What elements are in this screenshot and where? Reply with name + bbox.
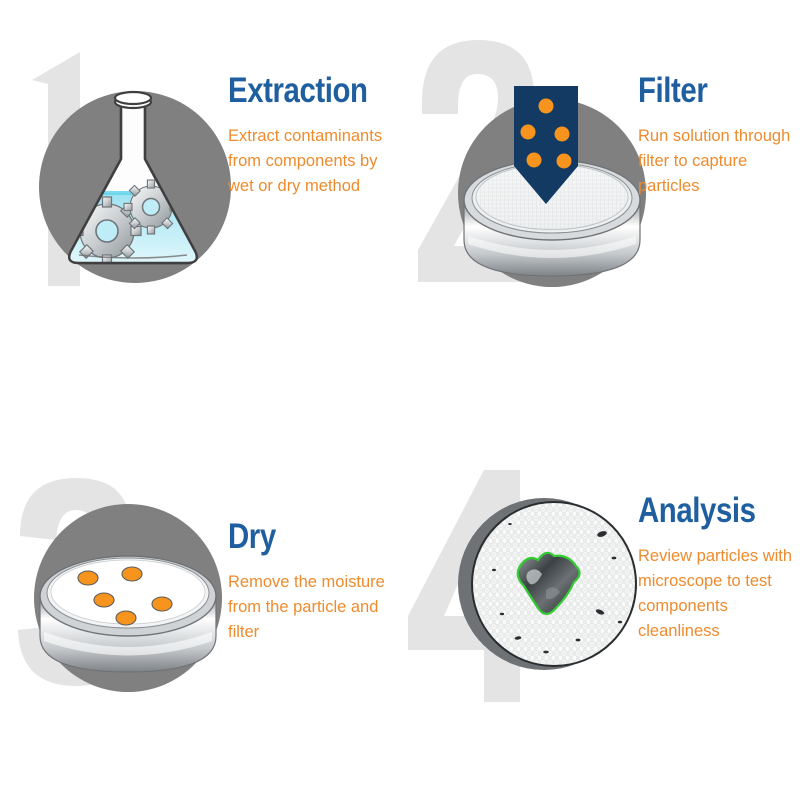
step-description: Review particles with microscope to test… bbox=[638, 544, 800, 644]
analysis-illustration bbox=[450, 462, 650, 712]
filter-illustration bbox=[452, 58, 652, 308]
step-description: Extract contaminants from components by … bbox=[228, 124, 396, 199]
process-infographic: Extraction Extract contaminants from com… bbox=[0, 0, 800, 800]
step-text-4: Analysis Review particles with microscop… bbox=[638, 492, 800, 644]
step-description: Run solution through filter to capture p… bbox=[638, 124, 800, 199]
step-description: Remove the moisture from the particle an… bbox=[228, 570, 396, 645]
step-text-1: Extraction Extract contaminants from com… bbox=[228, 72, 396, 199]
step-panel-4: Analysis Review particles with microscop… bbox=[400, 400, 800, 800]
step-title: Extraction bbox=[228, 72, 369, 110]
step-title: Analysis bbox=[638, 492, 779, 530]
step-text-3: Dry Remove the moisture from the particl… bbox=[228, 518, 396, 645]
extraction-illustration bbox=[35, 55, 235, 305]
step-text-2: Filter Run solution through filter to ca… bbox=[638, 72, 800, 199]
step-panel-3: Dry Remove the moisture from the particl… bbox=[0, 400, 400, 800]
step-title: Dry bbox=[228, 518, 369, 556]
dry-illustration bbox=[28, 478, 228, 728]
step-panel-1: Extraction Extract contaminants from com… bbox=[0, 0, 400, 400]
step-title: Filter bbox=[638, 72, 779, 110]
step-panel-2: Filter Run solution through filter to ca… bbox=[400, 0, 800, 400]
